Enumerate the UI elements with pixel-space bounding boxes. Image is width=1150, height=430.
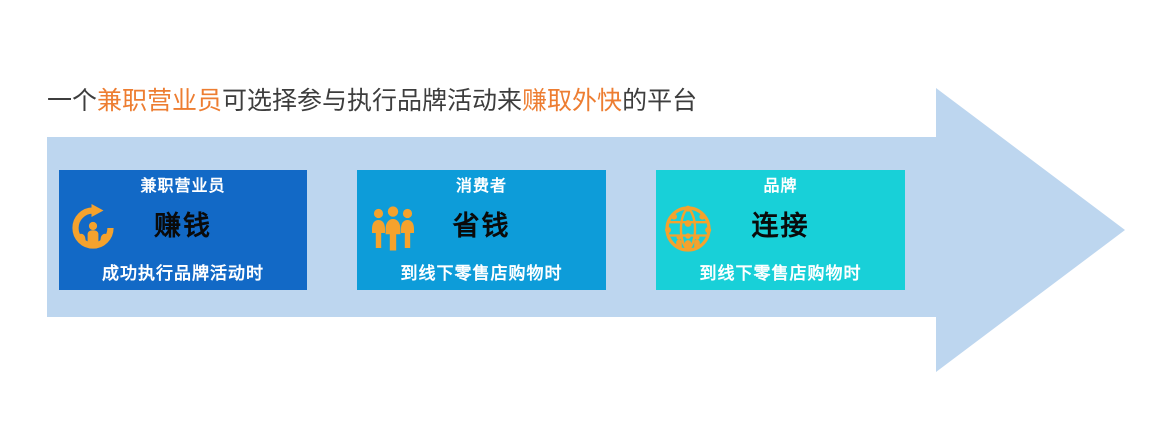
card-caption: 到线下零售店购物时: [656, 262, 905, 286]
benefit-card-part-time-clerk[interactable]: 兼职营业员 赚钱 成功执行品牌活动时: [59, 170, 307, 290]
headline: 一个兼职营业员可选择参与执行品牌活动来赚取外快的平台: [47, 86, 697, 118]
card-caption: 到线下零售店购物时: [357, 262, 606, 286]
card-headline: 赚钱: [59, 208, 307, 244]
benefit-card-brand[interactable]: 品牌: [656, 170, 905, 290]
card-label: 兼职营业员: [59, 176, 307, 198]
headline-segment-accent-1: 兼职营业员: [97, 88, 222, 115]
headline-segment-plain-2: 可选择参与执行品牌活动来: [222, 88, 522, 115]
card-headline: 连接: [656, 208, 905, 244]
card-label: 品牌: [656, 176, 905, 198]
headline-segment-plain-1: 一个: [47, 88, 97, 115]
headline-segment-plain-3: 的平台: [622, 88, 697, 115]
card-headline: 省钱: [357, 208, 606, 244]
headline-segment-accent-2: 赚取外快: [522, 88, 622, 115]
benefit-card-consumer[interactable]: 消费者 省钱 到线下零售店购物时: [357, 170, 606, 290]
card-caption: 成功执行品牌活动时: [59, 262, 307, 286]
benefit-cards-row: 兼职营业员 赚钱 成功执行品牌活动时: [59, 170, 905, 290]
diagram-canvas: 一个兼职营业员可选择参与执行品牌活动来赚取外快的平台 兼职营业员: [0, 0, 1150, 430]
card-label: 消费者: [357, 176, 606, 198]
